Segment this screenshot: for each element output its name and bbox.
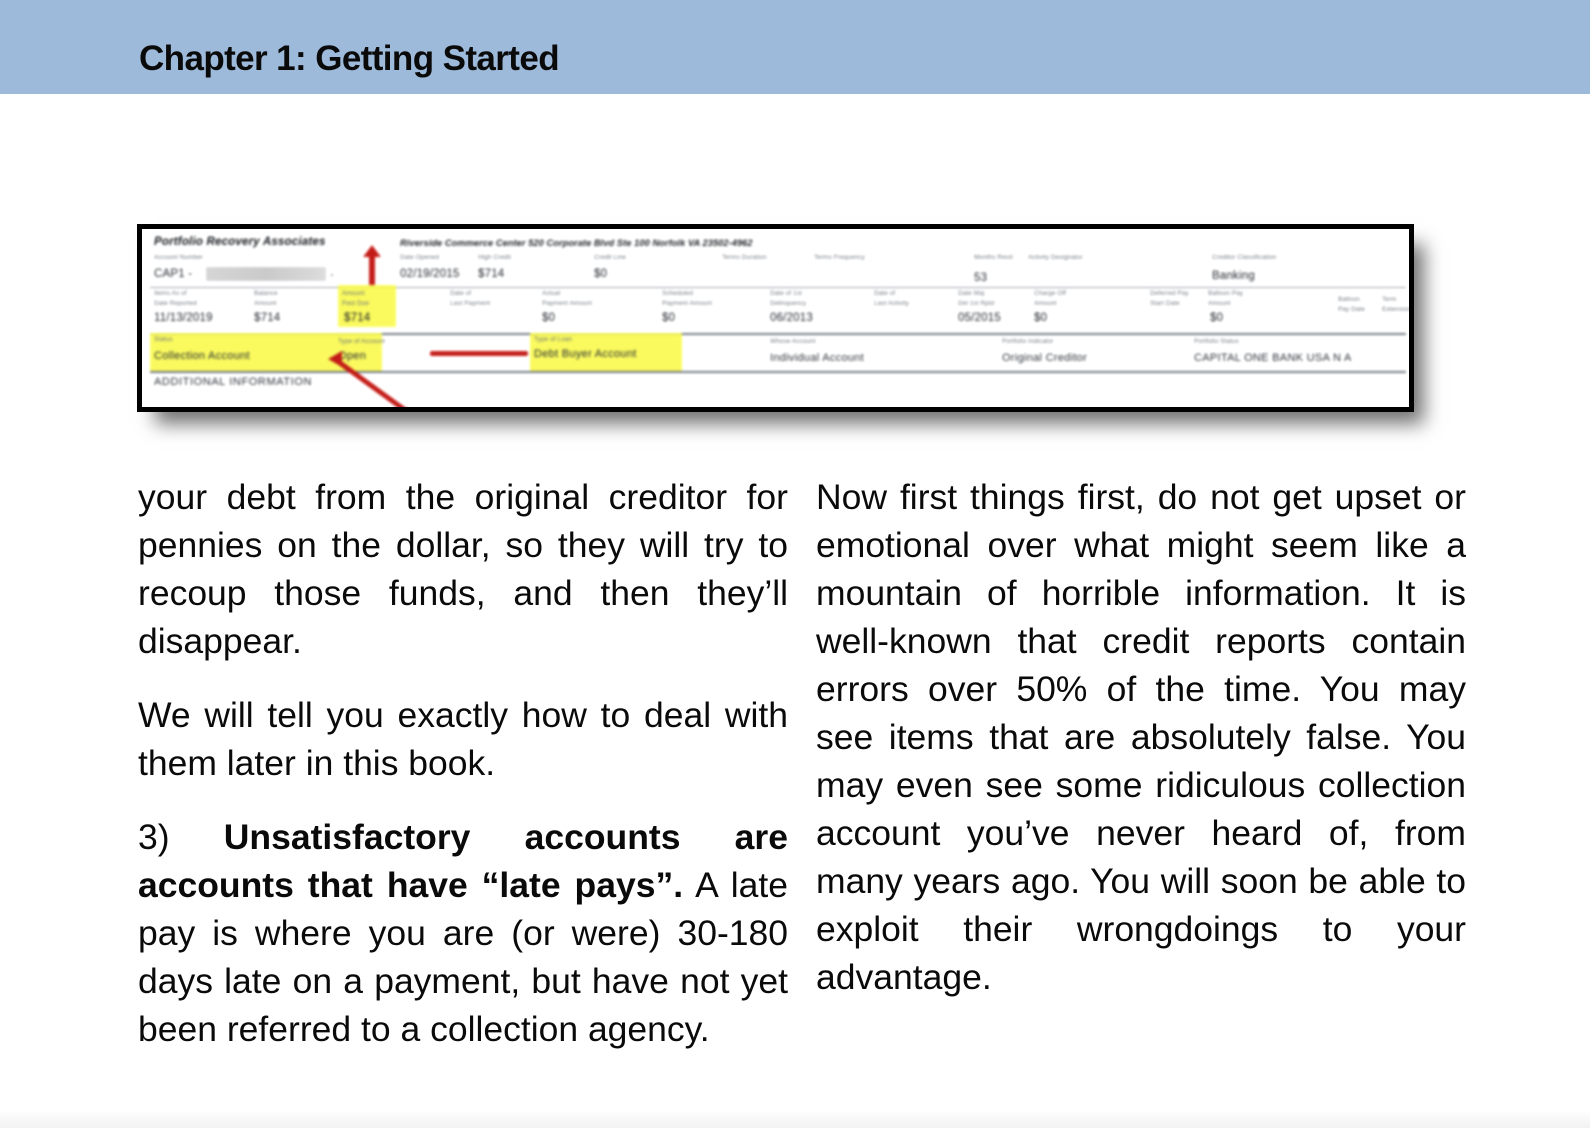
scan-label-dofd-1: Date of 1st	[770, 291, 802, 297]
scan-label-activity-designator: Activity Designator	[1028, 255, 1083, 261]
scan-redaction-marker: =	[330, 273, 334, 279]
page-bottom-edge	[0, 1110, 1590, 1128]
scan-value-type-of-account: Open	[338, 351, 366, 362]
list-bold-lead: Unsatisfactory accounts are accounts tha…	[138, 817, 788, 905]
scan-value-balloon-amount: $0	[1210, 313, 1223, 325]
scan-label-balloon-1: Balloon Pay	[1208, 291, 1243, 297]
redaction-bar-account-number	[206, 267, 326, 281]
scan-label-items-as-of-1: Items As of	[154, 291, 187, 297]
scan-label-portfolio-indicator: Portfolio Indicator	[1002, 339, 1054, 345]
scan-value-scheduled-payment: $0	[662, 313, 675, 325]
scan-label-status: Status	[154, 337, 173, 343]
scan-label-dla-2: Last Activity	[874, 301, 909, 307]
scan-account-number-label: Account Number	[154, 255, 203, 261]
scan-value-whose-account: Individual Account	[770, 353, 864, 364]
chapter-header-band: Chapter 1: Getting Started	[0, 0, 1590, 94]
scan-value-balance-amount: $714	[254, 313, 280, 325]
scan-value-amount-past-due: $714	[344, 313, 370, 325]
scan-value-date-opened: 02/19/2015	[400, 269, 460, 281]
scan-value-charge-off: $0	[1034, 313, 1047, 325]
scan-label-credit-line: Credit Line	[594, 255, 626, 261]
scan-label-chargeoff-2: Amount	[1034, 301, 1057, 307]
scan-label-creditor-classification: Creditor Classification	[1212, 255, 1276, 261]
scan-label-balance-2: Amount	[254, 301, 277, 307]
scan-label-scheduled-1: Scheduled	[662, 291, 693, 297]
scan-value-portfolio-indicator: Original Creditor	[1002, 353, 1087, 364]
scan-label-actual-2: Payment Amount	[542, 301, 592, 307]
scan-label-balloon-date-2: Pay Date	[1338, 307, 1365, 313]
scan-value-maj-del: 05/2015	[958, 313, 1001, 325]
scan-value-date-reported: 11/13/2019	[154, 313, 213, 325]
scan-value-status: Collection Account	[154, 351, 250, 362]
scan-label-deferred-1: Deferred Pay	[1150, 291, 1189, 297]
list-number: 3)	[138, 817, 170, 857]
scan-value-actual-payment: $0	[542, 313, 555, 325]
scan-label-dla-1: Date of	[874, 291, 895, 297]
scan-label-whose-account: Whose Account	[770, 339, 816, 345]
scan-label-majdel-2: Del 1st Rptd	[958, 301, 994, 307]
document-page: Chapter 1: Getting Started Portfolio Rec…	[0, 0, 1590, 1128]
scan-value-dofd: 06/2013	[770, 313, 813, 325]
scan-additional-information-header: ADDITIONAL INFORMATION	[154, 377, 312, 388]
annotation-line-type-of-loan	[430, 351, 528, 356]
scan-label-majdel-1: Date Maj	[958, 291, 984, 297]
scan-value-high-credit: $714	[478, 269, 504, 281]
scan-value-creditor-classification: Banking	[1212, 271, 1255, 283]
paragraph-right-1: Now first things first, do not get upset…	[816, 473, 1466, 1001]
scan-account-number-value: CAP1 -	[154, 269, 192, 281]
scan-label-items-as-of-2: Date Reported	[154, 301, 197, 307]
scan-label-date-opened: Date Opened	[400, 255, 439, 261]
scan-label-type-of-loan: Type of Loan	[534, 337, 572, 343]
page-title: Chapter 1: Getting Started	[139, 41, 559, 76]
scan-value-credit-line: $0	[594, 269, 607, 281]
credit-report-scan: Portfolio Recovery Associates Riverside …	[142, 229, 1409, 407]
credit-report-figure: Portfolio Recovery Associates Riverside …	[137, 224, 1414, 412]
scan-label-high-credit: High Credit	[478, 255, 511, 261]
scan-label-dofd-2: Delinquency	[770, 301, 806, 307]
scan-label-last-payment: Last Payment	[450, 301, 490, 307]
scan-label-deferred-2: Start Date	[1150, 301, 1180, 307]
scan-label-scheduled-2: Payment Amount	[662, 301, 712, 307]
scan-label-months-revd: Months Revd	[974, 255, 1013, 261]
scan-value-portfolio-status: CAPITAL ONE BANK USA N A	[1194, 353, 1352, 364]
scan-label-actual-1: Actual	[542, 291, 560, 297]
scan-value-type-of-loan: Debt Buyer Account	[534, 349, 637, 360]
body-column-right: Now first things first, do not get upset…	[816, 473, 1466, 1001]
paragraph-left-1: your debt from the original creditor for…	[138, 473, 788, 665]
annotation-arrow-down-shaft	[369, 255, 375, 285]
annotation-arrow-down-head	[363, 245, 381, 257]
scan-label-balloon-date-1: Balloon	[1338, 297, 1360, 303]
paragraph-left-2: We will tell you exactly how to deal wit…	[138, 691, 788, 787]
scan-label-terms-duration: Terms Duration	[722, 255, 767, 261]
scan-label-chargeoff-1: Charge Off	[1034, 291, 1066, 297]
scan-label-terms-frequency: Terms Frequency	[814, 255, 865, 261]
body-column-left: your debt from the original creditor for…	[138, 473, 788, 1053]
scan-label-date-of-1: Date of	[450, 291, 471, 297]
scan-label-term-2: Extension	[1382, 307, 1411, 313]
scan-value-months-revd: 53	[974, 273, 987, 285]
scan-label-portfolio-status: Portfolio Status	[1194, 339, 1239, 345]
scan-label-balance-1: Balance	[254, 291, 278, 297]
scan-label-type-of-account: Type of Account	[338, 339, 385, 345]
scan-label-balloon-2: Amount	[1208, 301, 1231, 307]
scan-furnisher-name: Portfolio Recovery Associates	[154, 237, 326, 249]
scan-divider-3	[150, 371, 1406, 373]
paragraph-left-item3: 3) Unsatisfactory accounts are accounts …	[138, 813, 788, 1053]
scan-label-term-1: Term	[1382, 297, 1397, 303]
scan-label-amount-past-due-1: Amount	[342, 291, 365, 297]
annotation-arrow-status-head	[328, 351, 342, 367]
scan-furnisher-address: Riverside Commerce Center 520 Corporate …	[400, 239, 753, 248]
scan-label-amount-past-due-2: Past Due	[342, 301, 369, 307]
